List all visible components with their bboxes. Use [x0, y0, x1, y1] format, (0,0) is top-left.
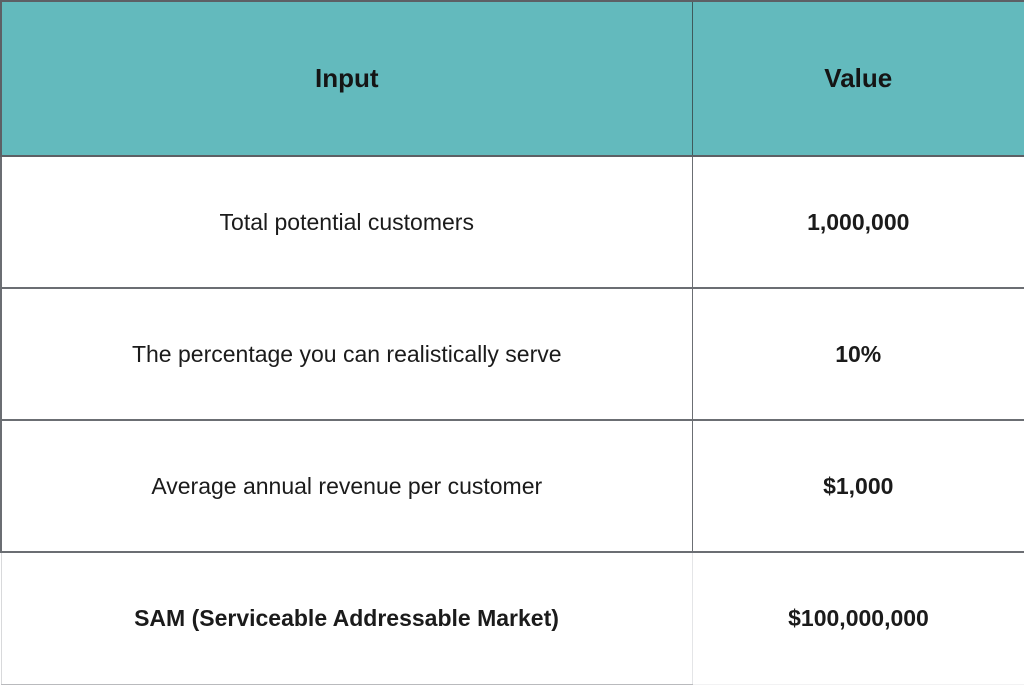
table-row-total: SAM (Serviceable Addressable Market) $10… [1, 552, 1024, 684]
row-value: $1,000 [692, 420, 1024, 552]
row-value: 10% [692, 288, 1024, 420]
row-input-label: The percentage you can realistically ser… [1, 288, 692, 420]
table-row: The percentage you can realistically ser… [1, 288, 1024, 420]
column-header-input: Input [1, 1, 692, 156]
table-body: Total potential customers 1,000,000 The … [1, 156, 1024, 684]
row-value: 1,000,000 [692, 156, 1024, 288]
row-input-label-total: SAM (Serviceable Addressable Market) [1, 552, 692, 684]
table-header: Input Value [1, 1, 1024, 156]
row-value-total: $100,000,000 [692, 552, 1024, 684]
row-input-label: Average annual revenue per customer [1, 420, 692, 552]
table-header-row: Input Value [1, 1, 1024, 156]
sam-calculation-table-container: Input Value Total potential customers 1,… [0, 0, 1024, 683]
column-header-value: Value [692, 1, 1024, 156]
row-input-label: Total potential customers [1, 156, 692, 288]
table-row: Average annual revenue per customer $1,0… [1, 420, 1024, 552]
table-row: Total potential customers 1,000,000 [1, 156, 1024, 288]
sam-calculation-table: Input Value Total potential customers 1,… [0, 0, 1024, 685]
